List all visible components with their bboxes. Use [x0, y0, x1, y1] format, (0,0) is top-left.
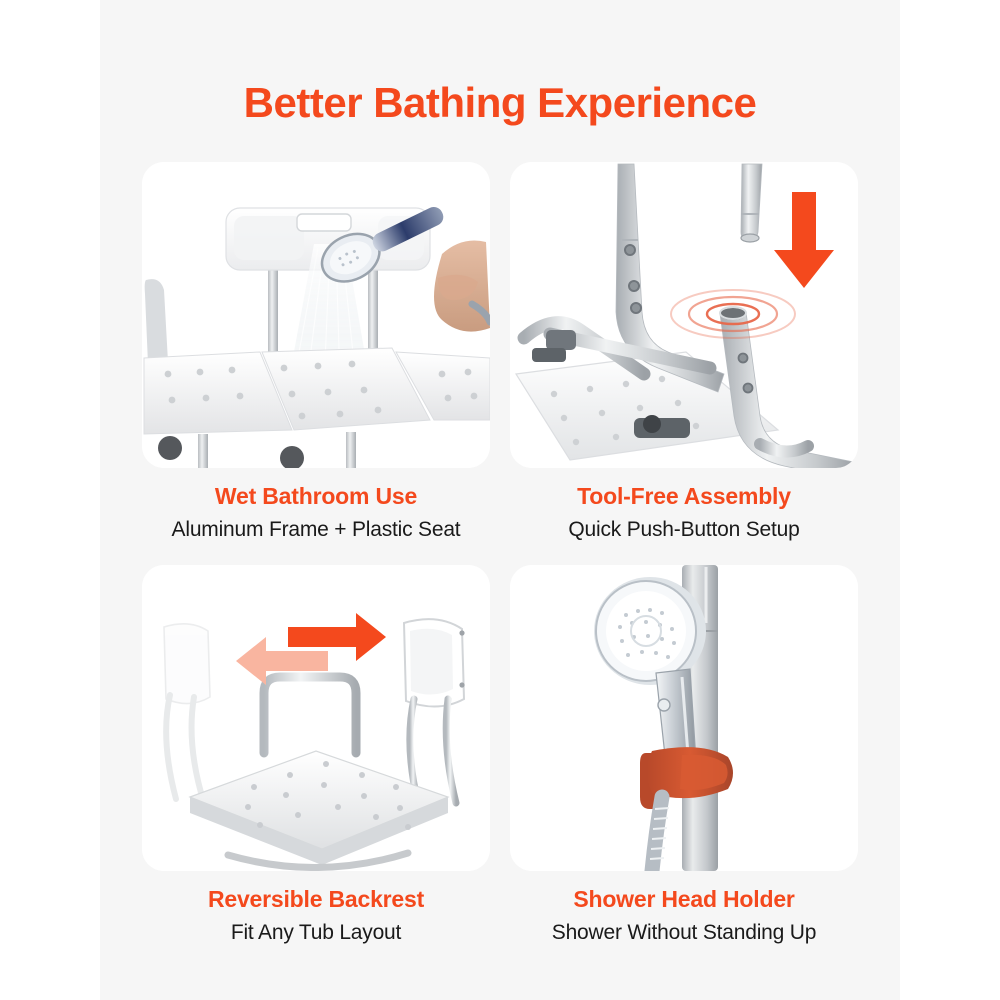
feature-subtitle: Quick Push-Button Setup: [510, 516, 858, 543]
feature-card-tool-free-assembly[interactable]: Tool-Free Assembly Quick Push-Button Set…: [510, 162, 858, 543]
feature-grid: Wet Bathroom Use Aluminum Frame + Plasti…: [142, 162, 858, 968]
feature-row-1: Wet Bathroom Use Aluminum Frame + Plasti…: [142, 162, 858, 543]
feature-image-reversible-backrest: [142, 565, 490, 871]
page-title: Better Bathing Experience: [100, 80, 900, 126]
feature-title: Reversible Backrest: [142, 885, 490, 914]
feature-subtitle: Aluminum Frame + Plastic Seat: [142, 516, 490, 543]
shower-holder-icon: [510, 565, 858, 871]
feature-card-wet-bathroom-use[interactable]: Wet Bathroom Use Aluminum Frame + Plasti…: [142, 162, 490, 543]
feature-row-2: Reversible Backrest Fit Any Tub Layout: [142, 565, 858, 946]
shower-spray-icon: [142, 162, 490, 468]
feature-title: Tool-Free Assembly: [510, 482, 858, 511]
down-arrow-icon: [510, 162, 858, 468]
feature-subtitle: Fit Any Tub Layout: [142, 919, 490, 946]
feature-card-reversible-backrest[interactable]: Reversible Backrest Fit Any Tub Layout: [142, 565, 490, 946]
swap-arrows-icon: [142, 565, 490, 871]
feature-image-wet-bathroom-use: [142, 162, 490, 468]
feature-title: Shower Head Holder: [510, 885, 858, 914]
feature-image-tool-free-assembly: [510, 162, 858, 468]
infographic-root: Better Bathing Experience: [0, 0, 1000, 1000]
feature-card-shower-head-holder[interactable]: Shower Head Holder Shower Without Standi…: [510, 565, 858, 946]
feature-caption-shower-head-holder: Shower Head Holder Shower Without Standi…: [510, 885, 858, 946]
feature-title: Wet Bathroom Use: [142, 482, 490, 511]
feature-caption-wet-bathroom-use: Wet Bathroom Use Aluminum Frame + Plasti…: [142, 482, 490, 543]
feature-subtitle: Shower Without Standing Up: [510, 919, 858, 946]
feature-caption-reversible-backrest: Reversible Backrest Fit Any Tub Layout: [142, 885, 490, 946]
feature-caption-tool-free-assembly: Tool-Free Assembly Quick Push-Button Set…: [510, 482, 858, 543]
feature-image-shower-head-holder: [510, 565, 858, 871]
